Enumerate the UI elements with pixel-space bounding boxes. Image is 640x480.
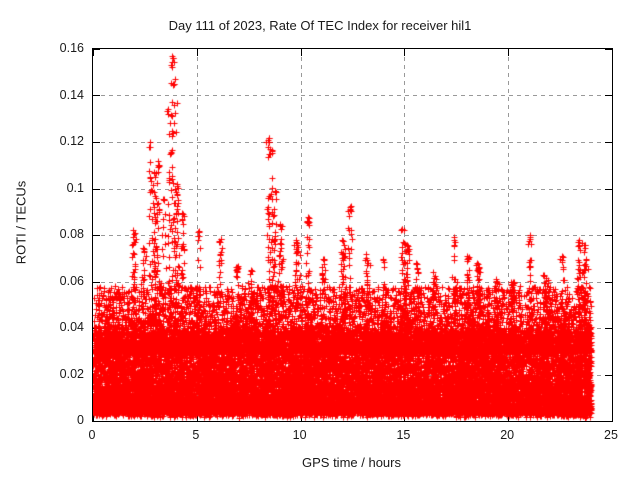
x-tick-label: 5 <box>192 428 199 442</box>
plot-frame <box>92 48 613 422</box>
y-tick-label: 0.1 <box>67 181 84 195</box>
x-tick-label: 20 <box>500 428 514 442</box>
x-axis-tick-labels: 0510152025 <box>92 428 611 448</box>
page-title: Day 111 of 2023, Rate Of TEC Index for r… <box>0 18 640 33</box>
y-tick-label: 0.02 <box>60 367 84 381</box>
x-tick-label: 25 <box>604 428 618 442</box>
y-tick-label: 0.16 <box>60 41 84 55</box>
x-tick-label: 10 <box>293 428 307 442</box>
y-tick-label: 0.14 <box>60 88 84 102</box>
x-tick-label: 0 <box>89 428 96 442</box>
y-axis-tick-labels: 00.020.040.060.080.10.120.140.16 <box>20 48 84 420</box>
data-points <box>93 49 612 421</box>
axis-ticks <box>93 49 612 421</box>
y-tick-label: 0 <box>77 413 84 427</box>
x-tick-label: 15 <box>396 428 410 442</box>
roti-scatter-plot: Day 111 of 2023, Rate Of TEC Index for r… <box>0 0 640 480</box>
gridlines <box>93 49 612 421</box>
y-tick-label: 0.04 <box>60 320 84 334</box>
y-tick-label: 0.06 <box>60 274 84 288</box>
y-tick-label: 0.08 <box>60 227 84 241</box>
y-tick-label: 0.12 <box>60 134 84 148</box>
x-axis-title: GPS time / hours <box>92 455 611 470</box>
